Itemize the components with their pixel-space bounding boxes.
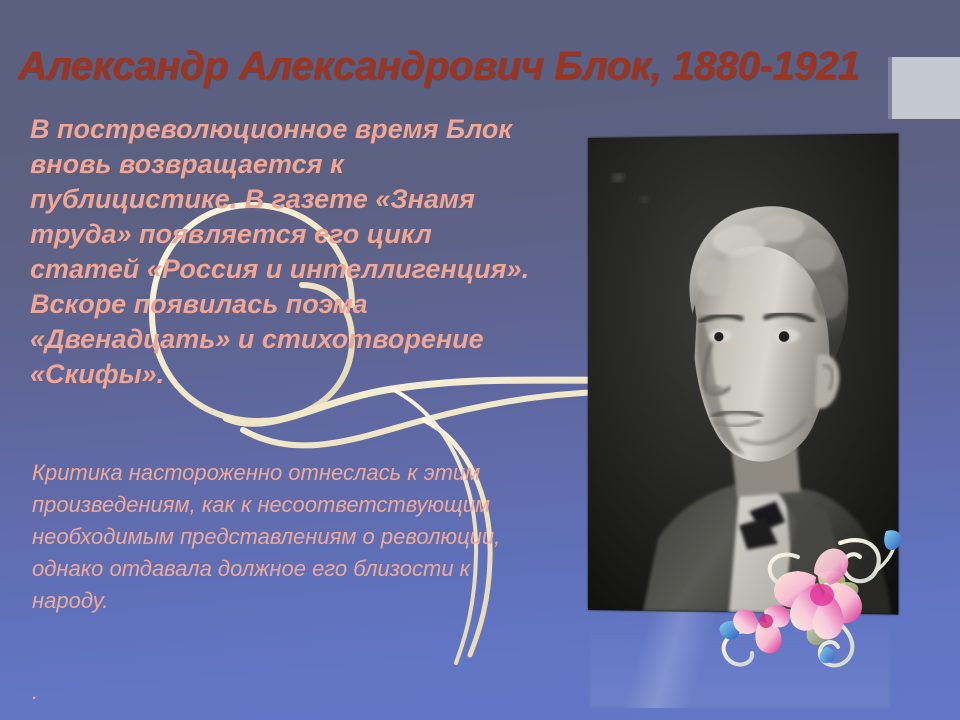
page-title: Александр Александрович Блок, 1880-1921 <box>18 44 948 89</box>
slide-body-text: В постреволюционное время Блок вновь воз… <box>30 112 540 392</box>
paragraph-secondary: Критика настороженно отнеслась к этим пр… <box>32 457 532 617</box>
paragraph-main: В постреволюционное время Блок вновь воз… <box>30 112 540 392</box>
presentation-slide: Александр Александрович Блок, 1880-1921 <box>0 0 960 720</box>
paragraph-trailing-dot: . <box>32 679 38 705</box>
pink-flower-ornament-icon <box>690 525 920 685</box>
